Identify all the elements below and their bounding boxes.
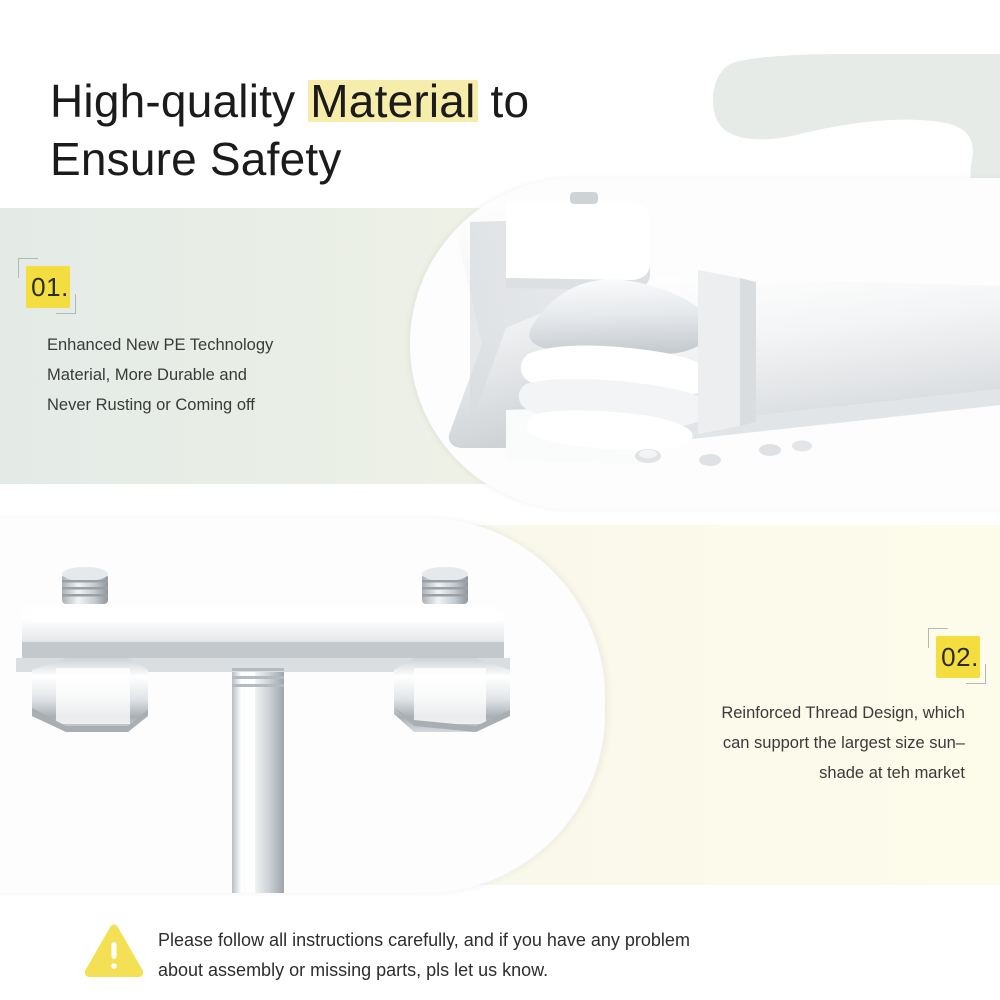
footer-line-2: about assembly or missing parts, pls let… bbox=[158, 955, 918, 985]
page-title: High-quality Material to Ensure Safety bbox=[50, 72, 670, 188]
footer-line-1: Please follow all instructions carefully… bbox=[158, 925, 918, 955]
warning-triangle-icon bbox=[83, 922, 145, 980]
title-text-before: High-quality bbox=[50, 75, 308, 127]
feature-two-line-2: can support the largest size sun– bbox=[620, 728, 965, 758]
product-photo-panel-one bbox=[410, 178, 1000, 510]
infographic-page: High-quality Material to Ensure Safety bbox=[0, 0, 1000, 1000]
feature-two-line-3: shade at teh market bbox=[620, 758, 965, 788]
product-photo-panel-two bbox=[0, 518, 605, 893]
title-highlight-material: Material bbox=[308, 72, 477, 130]
white-plastic-bracket-photo bbox=[410, 178, 1000, 510]
footer-text: Please follow all instructions carefully… bbox=[158, 925, 918, 985]
footer-notice: Please follow all instructions carefully… bbox=[0, 910, 1000, 1000]
feature-badge-one: 01. bbox=[18, 258, 66, 306]
feature-description-one: Enhanced New PE Technology Material, Mor… bbox=[47, 330, 377, 420]
title-line-two: Ensure Safety bbox=[50, 130, 670, 188]
feature-badge-two: 02. bbox=[928, 628, 976, 676]
badge-corner-bottom-right-icon bbox=[56, 294, 76, 314]
title-line-one: High-quality Material to bbox=[50, 72, 670, 130]
feature-description-two: Reinforced Thread Design, which can supp… bbox=[620, 698, 965, 788]
feature-two-line-1: Reinforced Thread Design, which bbox=[620, 698, 965, 728]
feature-one-line-3: Never Rusting or Coming off bbox=[47, 390, 377, 420]
chrome-t-bracket-photo bbox=[0, 518, 605, 893]
title-text-after: to bbox=[478, 75, 530, 127]
badge-corner-bottom-right-icon bbox=[966, 664, 986, 684]
feature-one-line-1: Enhanced New PE Technology bbox=[47, 330, 377, 360]
feature-one-line-2: Material, More Durable and bbox=[47, 360, 377, 390]
